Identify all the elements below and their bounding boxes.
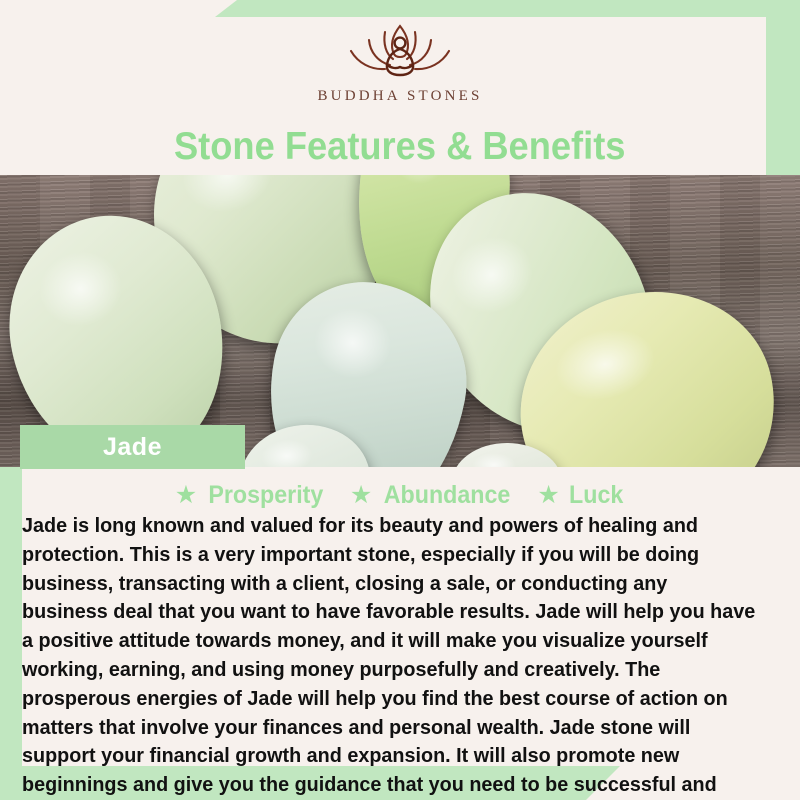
stone-name-badge: Jade: [20, 425, 245, 469]
benefit-label: Luck: [569, 481, 623, 510]
benefit-item: ★ Abundance: [350, 481, 516, 510]
star-icon: ★: [350, 483, 372, 508]
lotus-meditation-icon: [338, 20, 462, 82]
benefit-label: Prosperity: [209, 481, 324, 510]
stone-name-label: Jade: [103, 433, 162, 462]
star-icon: ★: [175, 483, 197, 508]
star-icon: ★: [537, 483, 559, 508]
stone-description: Jade is long known and valued for its be…: [22, 512, 757, 800]
benefit-label: Abundance: [384, 481, 511, 510]
benefits-row: ★ Prosperity ★ Abundance ★ Luck: [0, 478, 800, 512]
benefit-item: ★ Luck: [537, 481, 625, 510]
stone-benefits-infographic: BUDDHA STONES Stone Features & Benefits …: [0, 0, 800, 800]
benefit-item: ★ Prosperity: [175, 481, 328, 510]
page-title-text: Stone Features & Benefits: [174, 125, 625, 169]
page-title: Stone Features & Benefits: [0, 123, 800, 171]
brand-wordmark: BUDDHA STONES: [317, 88, 482, 105]
brand-logo: BUDDHA STONES: [0, 0, 800, 120]
stone-photo: [0, 175, 800, 467]
